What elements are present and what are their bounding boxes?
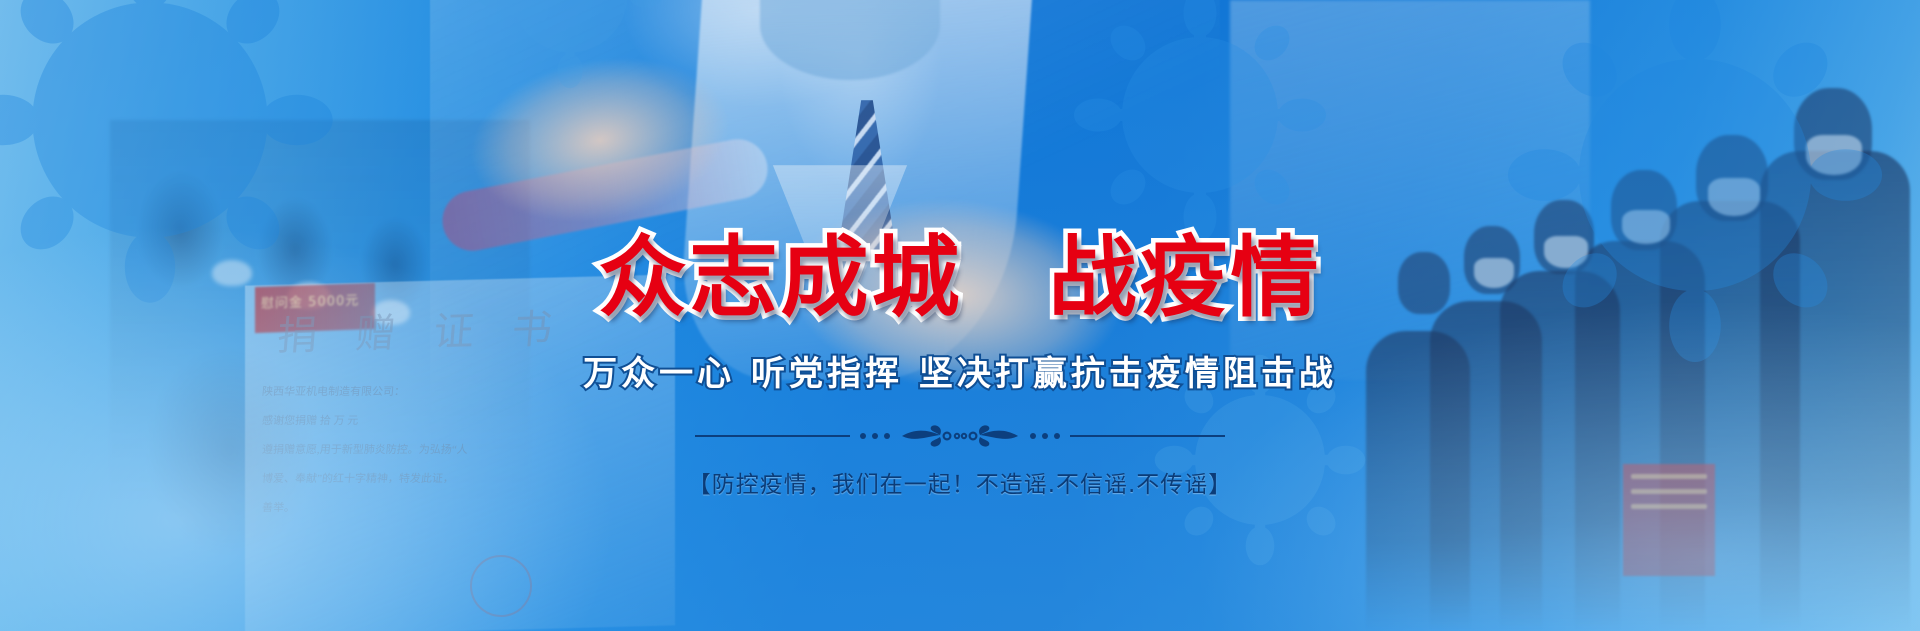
divider-rule-left: [695, 435, 850, 437]
tagline: 【防控疫情，我们在一起！不造谣.不信谣.不传谣】: [688, 465, 1233, 499]
covid-prevention-banner: 慰问金 5000元 捐 赠 证 书 陕西华亚机电制造有限公司： 感谢您捐赠 拾 …: [0, 0, 1920, 631]
subtitle: 万众一心 听党指挥 坚决打赢抗击疫情阻击战: [583, 346, 1337, 395]
banner-content: 众志成城 战疫情 万众一心 听党指挥 坚决打赢抗击疫情阻击战: [0, 0, 1920, 631]
main-title-right: 战疫情: [1049, 234, 1322, 322]
divider-dots-right: [1020, 433, 1070, 439]
divider-dots-left: [850, 433, 900, 439]
divider-flourish-icon: [900, 423, 1020, 449]
divider-rule-right: [1070, 435, 1225, 437]
main-title: 众志成城 战疫情: [598, 234, 1321, 322]
main-title-left: 众志成城: [598, 234, 962, 322]
ornamental-divider: [695, 423, 1225, 449]
